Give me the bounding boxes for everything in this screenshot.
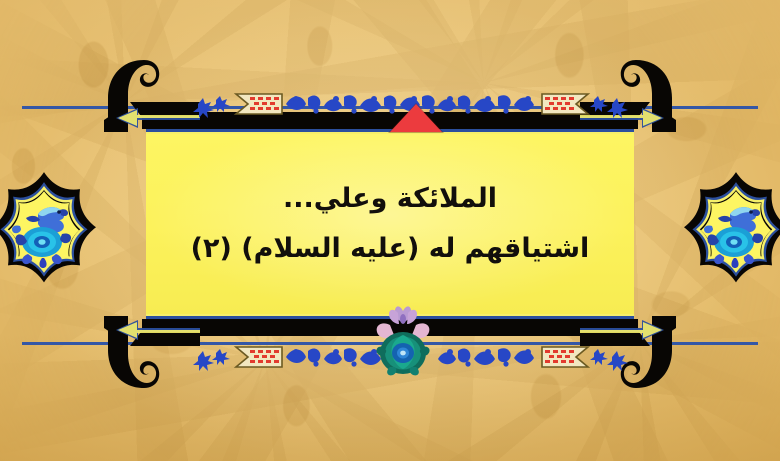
red-triangle-finial [390, 104, 442, 132]
title-card: الملائكة وعلي... اشتياقهم له (عليه السلا… [0, 0, 780, 461]
title-line-2: اشتياقهم له (عليه السلام) (٢) [191, 232, 590, 266]
title-line-1: الملائكة وعلي... [283, 182, 497, 216]
scroll-finial-bottom-left [104, 316, 200, 390]
cartouche-left [236, 94, 282, 114]
cartouche-right [542, 94, 588, 114]
teal-rosette-finial [368, 305, 438, 379]
scroll-finial-top-left [104, 58, 200, 132]
cartouche-right [542, 347, 588, 367]
cartouche-left [236, 347, 282, 367]
ornamental-frame: الملائكة وعلي... اشتياقهم له (عليه السلا… [22, 62, 758, 386]
bird-and-rose-medallion-left [0, 162, 108, 290]
title-text-block: الملائكة وعلي... اشتياقهم له (عليه السلا… [146, 134, 634, 314]
text-panel: الملائكة وعلي... اشتياقهم له (عليه السلا… [146, 134, 634, 314]
bird-and-rose-medallion-right [672, 162, 780, 290]
rosette-bloom [376, 332, 429, 375]
